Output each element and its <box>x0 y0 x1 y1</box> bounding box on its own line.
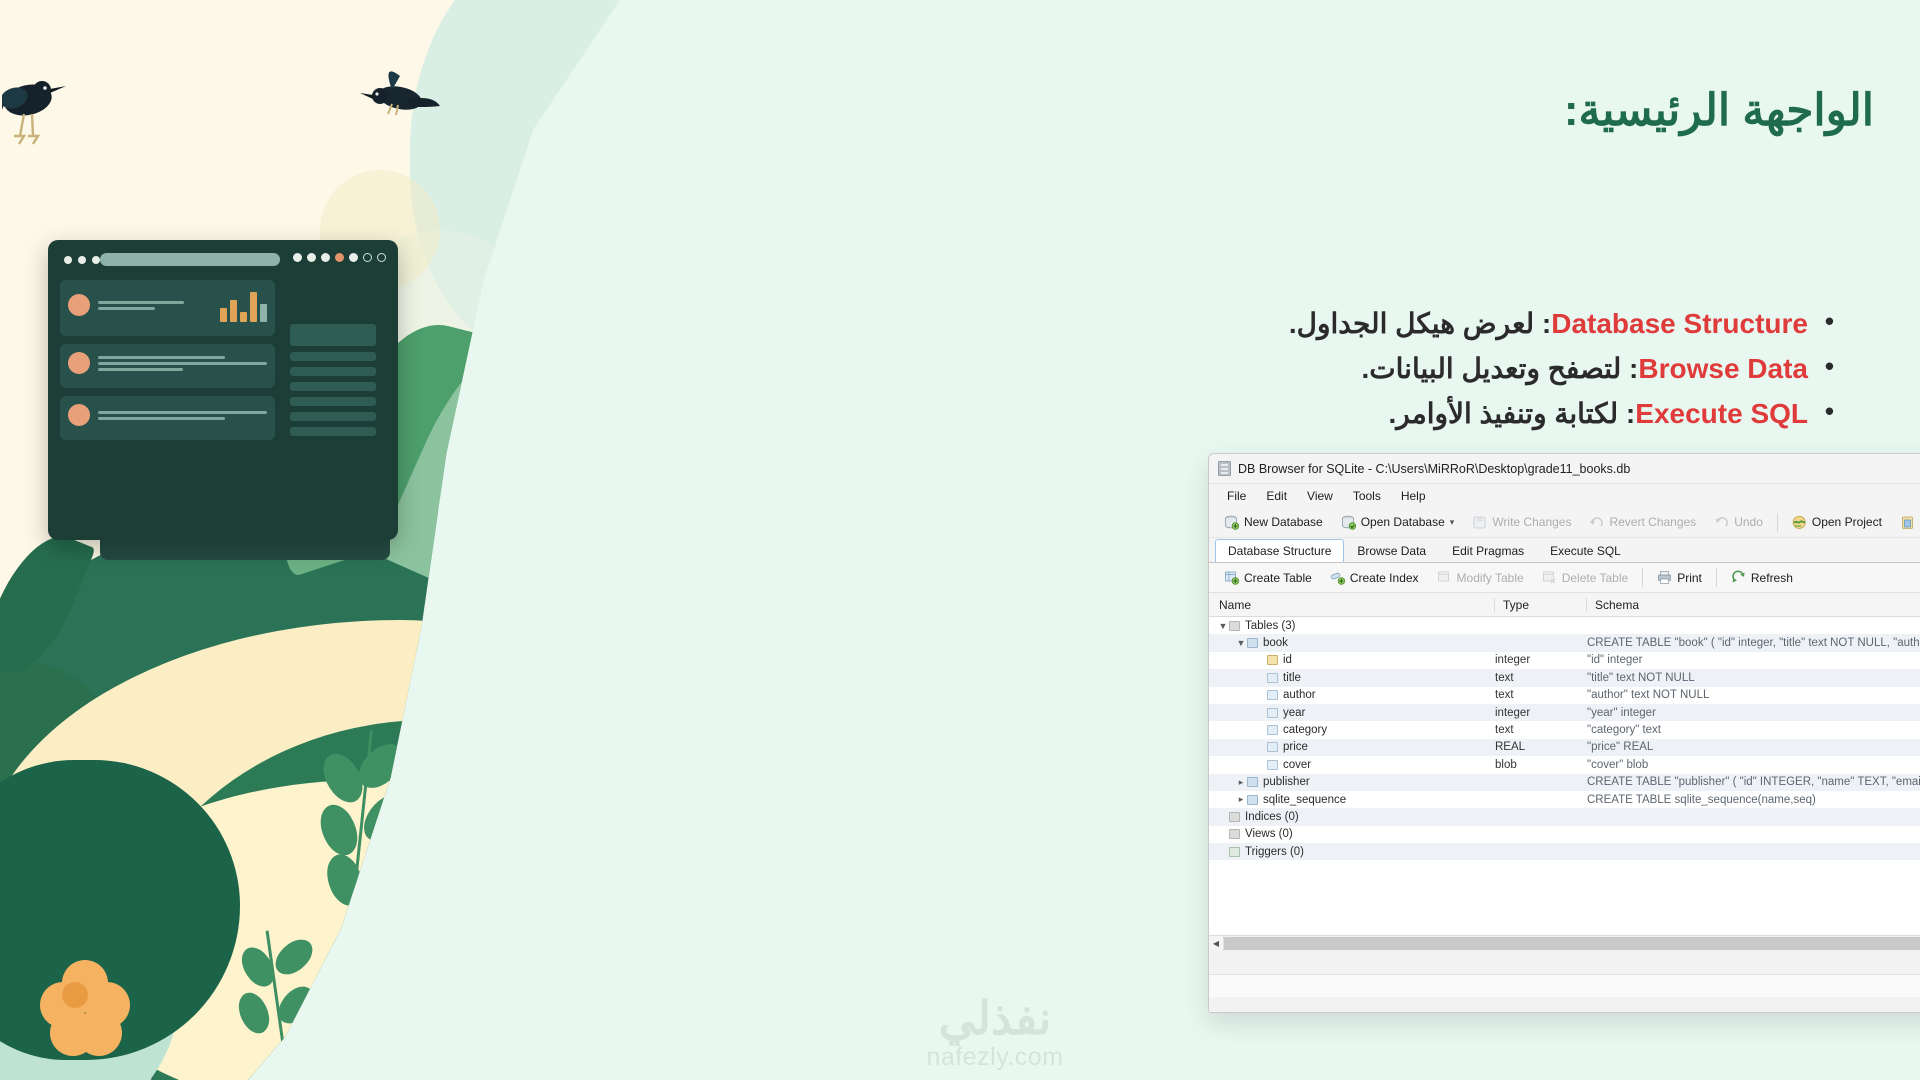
row-name: publisher <box>1263 776 1310 788</box>
table-row[interactable]: ▸ sqlite_sequence CREATE TABLE sqlite_se… <box>1209 791 1920 808</box>
toolbar-label: Revert Changes <box>1609 515 1696 529</box>
trigger-icon <box>1229 847 1240 857</box>
delete-table-button: Delete Table <box>1533 568 1638 587</box>
create-index-button[interactable]: Create Index <box>1321 568 1428 587</box>
new-database-icon <box>1224 515 1239 530</box>
row-name: year <box>1283 707 1305 719</box>
decor-dashboard-window <box>48 240 398 540</box>
toolbar-label: Create Index <box>1350 571 1419 585</box>
delete-table-icon <box>1542 570 1557 585</box>
table-row[interactable]: ▸ Indices (0) <box>1209 808 1920 825</box>
row-name: Indices (0) <box>1245 811 1299 823</box>
row-schema: "year" integer <box>1587 707 1920 719</box>
revert-changes-button: Revert Changes <box>1580 513 1705 532</box>
database-structure-tree[interactable]: ▼ Tables (3) ▼ book CREATE TABLE "book" … <box>1209 617 1920 935</box>
row-schema: CREATE TABLE "book" ( "id" integer, "tit… <box>1587 637 1920 649</box>
table-row[interactable]: ▸ id integer "id" integer <box>1209 652 1920 669</box>
column-icon <box>1267 690 1278 700</box>
folder-icon <box>1229 621 1240 631</box>
column-icon <box>1267 673 1278 683</box>
row-type: blob <box>1495 759 1587 771</box>
key-column-icon <box>1267 655 1278 665</box>
menu-item-tools[interactable]: Tools <box>1343 487 1391 505</box>
bullet-keyword: Execute SQL <box>1635 398 1808 429</box>
menu-item-view[interactable]: View <box>1297 487 1343 505</box>
table-row[interactable]: ▸ title text "title" text NOT NULL <box>1209 669 1920 686</box>
row-schema: "category" text <box>1587 724 1920 736</box>
decor-window-dots <box>64 256 100 264</box>
table-icon <box>1247 795 1258 805</box>
save-project-button[interactable]: Save Project <box>1891 513 1920 532</box>
table-icon <box>1247 777 1258 787</box>
bird-icon <box>2 60 72 160</box>
bullet-keyword: Database Structure <box>1551 308 1808 339</box>
create-index-icon <box>1330 570 1345 585</box>
table-row[interactable]: ▸ cover blob "cover" blob <box>1209 756 1920 773</box>
status-bar: UTF-8 <box>1209 950 1920 974</box>
table-row[interactable]: ▸ Views (0) <box>1209 826 1920 843</box>
page-title: الواجهة الرئيسية: <box>1564 85 1874 136</box>
row-type: integer <box>1495 654 1587 666</box>
table-row[interactable]: ▸ year integer "year" integer <box>1209 704 1920 721</box>
create-table-icon <box>1224 570 1239 585</box>
tab-browse-data[interactable]: Browse Data <box>1344 539 1439 562</box>
table-row[interactable]: ▼ book CREATE TABLE "book" ( "id" intege… <box>1209 634 1920 651</box>
column-header-name[interactable]: Name <box>1209 598 1495 612</box>
toolbar-label: Open Project <box>1812 515 1882 529</box>
row-schema: CREATE TABLE "publisher" ( "id" INTEGER,… <box>1587 776 1920 788</box>
print-icon <box>1657 570 1672 585</box>
row-name: author <box>1283 689 1316 701</box>
structure-toolbar: Create Table Create Index Modify Table D… <box>1209 563 1920 593</box>
toolbar-label: Delete Table <box>1562 571 1629 585</box>
toolbar-label: Write Changes <box>1492 515 1571 529</box>
db-browser-window: DB Browser for SQLite - C:\Users\MiRRoR\… <box>1208 453 1920 1013</box>
modify-table-button: Modify Table <box>1428 568 1533 587</box>
toolbar-label: Undo <box>1734 515 1763 529</box>
open-project-icon <box>1792 515 1807 530</box>
list-item: Browse Data: لتصفح وتعديل البيانات. <box>1289 351 1834 388</box>
toolbar-separator <box>1777 513 1778 532</box>
column-icon <box>1267 725 1278 735</box>
scroll-left-icon[interactable]: ◀ <box>1209 936 1224 951</box>
decor-window-icons <box>293 253 386 262</box>
title-bar: DB Browser for SQLite - C:\Users\MiRRoR\… <box>1209 454 1920 484</box>
row-schema: "id" integer <box>1587 654 1920 666</box>
spacer: ▸ <box>1217 811 1229 822</box>
undo-button: Undo <box>1705 513 1772 532</box>
open-project-button[interactable]: Open Project <box>1783 513 1891 532</box>
chevron-down-icon[interactable]: ▼ <box>1217 621 1229 631</box>
chevron-down-icon[interactable]: ▾ <box>1450 517 1455 528</box>
write-changes-button: Write Changes <box>1463 513 1580 532</box>
row-type: text <box>1495 672 1587 684</box>
chevron-right-icon[interactable]: ▸ <box>1235 777 1247 788</box>
column-icon <box>1267 760 1278 770</box>
tab-database-structure[interactable]: Database Structure <box>1215 539 1344 562</box>
create-table-button[interactable]: Create Table <box>1215 568 1321 587</box>
row-type: REAL <box>1495 741 1587 753</box>
list-item: Execute SQL: لكتابة وتنفيذ الأوامر. <box>1289 396 1834 433</box>
toolbar-label: Refresh <box>1751 571 1793 585</box>
spacer: ▸ <box>1255 759 1267 770</box>
table-row[interactable]: ▸ category text "category" text <box>1209 721 1920 738</box>
slide-content: الواجهة الرئيسية: Database Structure: لع… <box>620 0 1920 1080</box>
chevron-right-icon[interactable]: ▸ <box>1235 794 1247 805</box>
row-type: text <box>1495 724 1587 736</box>
refresh-icon <box>1731 570 1746 585</box>
column-icon <box>1267 742 1278 752</box>
app-icon <box>1218 461 1231 476</box>
row-schema: "author" text NOT NULL <box>1587 689 1920 701</box>
tab-edit-pragmas[interactable]: Edit Pragmas <box>1439 539 1537 562</box>
table-row[interactable]: ▸ author text "author" text NOT NULL <box>1209 687 1920 704</box>
spacer: ▸ <box>1255 690 1267 701</box>
window-title: DB Browser for SQLite - C:\Users\MiRRoR\… <box>1238 462 1920 476</box>
grid-header: Name Type Schema <box>1209 593 1920 617</box>
row-schema: "title" text NOT NULL <box>1587 672 1920 684</box>
feature-bullet-list: Database Structure: لعرض هيكل الجداول. B… <box>1289 306 1874 441</box>
bottom-panel <box>1209 974 1920 997</box>
spacer: ▸ <box>1255 672 1267 683</box>
row-schema: CREATE TABLE sqlite_sequence(name,seq) <box>1587 794 1920 806</box>
toolbar-label: Create Table <box>1244 571 1312 585</box>
row-name: cover <box>1283 759 1311 771</box>
table-row[interactable]: ▸ Triggers (0) <box>1209 843 1920 860</box>
list-item: Database Structure: لعرض هيكل الجداول. <box>1289 306 1834 343</box>
spacer: ▸ <box>1217 829 1229 840</box>
table-row[interactable]: ▼ Tables (3) <box>1209 617 1920 634</box>
tab-execute-sql[interactable]: Execute SQL <box>1537 539 1634 562</box>
spacer: ▸ <box>1255 725 1267 736</box>
menu-item-edit[interactable]: Edit <box>1256 487 1297 505</box>
bullet-text: : لعرض هيكل الجداول. <box>1289 308 1551 339</box>
spacer: ▸ <box>1255 742 1267 753</box>
decor-url-bar <box>100 253 280 266</box>
row-schema: "price" REAL <box>1587 741 1920 753</box>
table-row[interactable]: ▸ price REAL "price" REAL <box>1209 739 1920 756</box>
scrollbar-thumb[interactable] <box>1224 937 1920 950</box>
bullet-text: : لكتابة وتنفيذ الأوامر. <box>1388 398 1635 429</box>
column-header-schema[interactable]: Schema <box>1587 598 1920 612</box>
scrollbar-track[interactable] <box>1224 936 1920 951</box>
toolbar-separator <box>1642 568 1643 587</box>
bullet-keyword: Browse Data <box>1638 353 1808 384</box>
modify-table-icon <box>1437 570 1452 585</box>
row-name: book <box>1263 637 1288 649</box>
spacer: ▸ <box>1255 655 1267 666</box>
toolbar-label: Print <box>1677 571 1702 585</box>
refresh-button[interactable]: Refresh <box>1722 568 1802 587</box>
bullet-text: : لتصفح وتعديل البيانات. <box>1361 353 1638 384</box>
horizontal-scrollbar[interactable]: ◀ <box>1209 935 1920 950</box>
bird-icon <box>358 60 442 130</box>
open-database-icon <box>1341 515 1356 530</box>
toolbar-label: Open Database <box>1361 515 1445 529</box>
row-name: Views (0) <box>1245 828 1293 840</box>
revert-changes-icon <box>1589 515 1604 530</box>
view-icon <box>1229 829 1240 839</box>
decor-dashboard-body <box>60 280 386 530</box>
spacer: ▸ <box>1255 707 1267 718</box>
spacer: ▸ <box>1217 846 1229 857</box>
open-database-button[interactable]: Open Database ▾ <box>1332 513 1464 532</box>
toolbar-label: New Database <box>1244 515 1323 529</box>
undo-icon <box>1714 515 1729 530</box>
leaf-icon <box>423 683 620 977</box>
row-name: category <box>1283 724 1327 736</box>
table-row[interactable]: ▸ publisher CREATE TABLE "publisher" ( "… <box>1209 774 1920 791</box>
row-type: text <box>1495 689 1587 701</box>
table-icon <box>1247 638 1258 648</box>
row-name: id <box>1283 654 1292 666</box>
row-name: Tables (3) <box>1245 620 1296 632</box>
row-name: sqlite_sequence <box>1263 794 1346 806</box>
row-schema: "cover" blob <box>1587 759 1920 771</box>
toolbar-label: Modify Table <box>1457 571 1524 585</box>
menu-item-file[interactable]: File <box>1217 487 1256 505</box>
save-project-icon <box>1900 515 1915 530</box>
main-toolbar: New Database Open Database ▾ Write Chang… <box>1209 507 1920 538</box>
write-changes-icon <box>1472 515 1487 530</box>
row-name: price <box>1283 741 1308 753</box>
chevron-down-icon[interactable]: ▼ <box>1235 638 1247 648</box>
column-header-type[interactable]: Type <box>1495 598 1587 612</box>
row-name: title <box>1283 672 1301 684</box>
tab-bar: Database Structure Browse Data Edit Prag… <box>1209 538 1920 563</box>
menu-bar: File Edit View Tools Help <box>1209 484 1920 507</box>
decorative-illustration-panel <box>0 0 620 1080</box>
toolbar-separator <box>1716 568 1717 587</box>
new-database-button[interactable]: New Database <box>1215 513 1332 532</box>
menu-item-help[interactable]: Help <box>1391 487 1436 505</box>
print-button[interactable]: Print <box>1648 568 1711 587</box>
index-icon <box>1229 812 1240 822</box>
row-name: Triggers (0) <box>1245 846 1304 858</box>
column-icon <box>1267 708 1278 718</box>
row-type: integer <box>1495 707 1587 719</box>
